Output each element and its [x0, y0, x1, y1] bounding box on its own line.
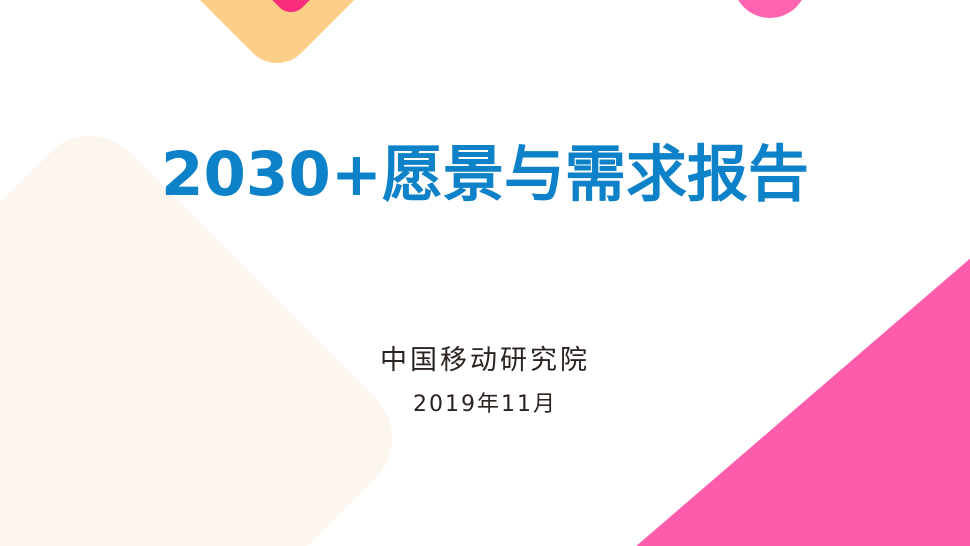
organization-name: 中国移动研究院: [380, 345, 590, 377]
yellow-chevron-decoration-icon: [123, 0, 431, 77]
slide-date: 2019年11月: [413, 392, 557, 418]
title-slide: 2030+愿景与需求报告 中国移动研究院 2019年11月: [0, 0, 970, 546]
page-title: 2030+愿景与需求报告: [161, 144, 809, 205]
pink-blob-decoration-icon: [733, 0, 807, 18]
organization-container: 中国移动研究院: [0, 345, 970, 377]
title-container: 2030+愿景与需求报告: [0, 144, 970, 205]
date-container: 2019年11月: [0, 392, 970, 418]
